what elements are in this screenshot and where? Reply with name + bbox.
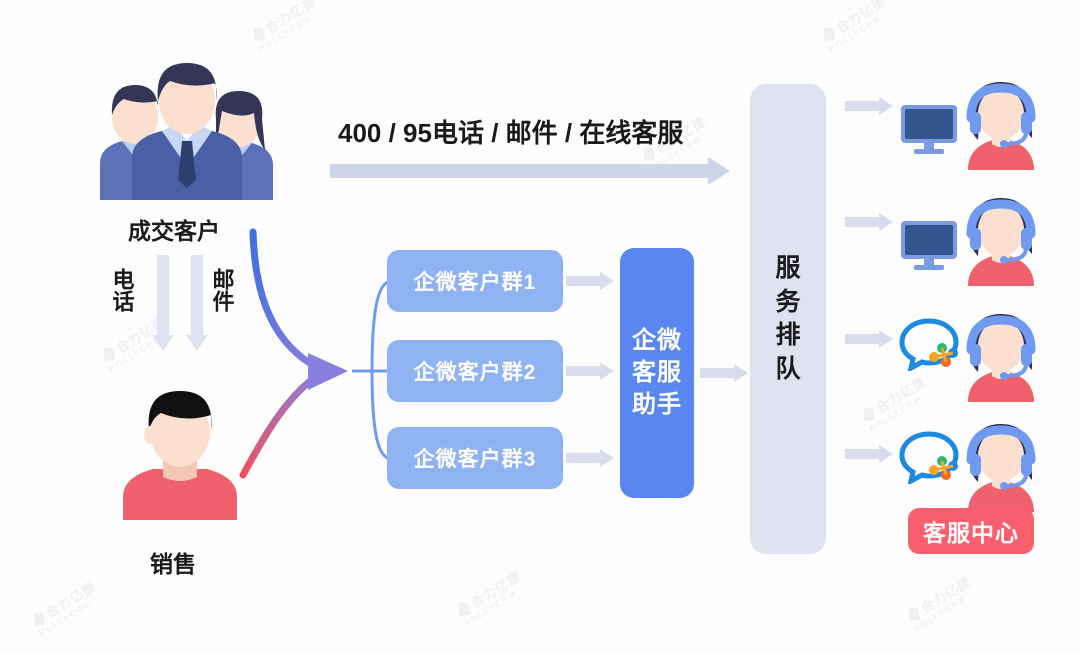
queue-to-agent-4-arrow xyxy=(845,445,893,463)
agent-avatar xyxy=(958,78,1044,170)
watermark: 合力亿捷HOLLYCRM xyxy=(453,568,529,630)
queue-to-agent-2-arrow xyxy=(845,213,893,231)
queue-line-3: 排 xyxy=(775,319,800,353)
assistant-line-1: 企微 xyxy=(632,325,682,357)
service-queue-box[interactable]: 服 务 排 队 xyxy=(750,84,826,554)
monitor-icon xyxy=(900,104,958,154)
wecom-group-2[interactable]: 企微客户群2 xyxy=(387,340,563,402)
top-channel-label: 400 / 95电话 / 邮件 / 在线客服 xyxy=(338,113,683,150)
watermark: 合力亿捷HOLLYCRM xyxy=(903,573,979,635)
service-center-badge[interactable]: 客服中心 xyxy=(908,508,1034,554)
queue-to-agent-3-arrow xyxy=(845,330,893,348)
watermark: 合力亿捷HOLLYCRM xyxy=(818,0,894,55)
monitor-icon xyxy=(900,220,958,270)
wecom-group-3[interactable]: 企微客户群3 xyxy=(387,427,563,489)
customers-illustration xyxy=(70,55,300,200)
agent-avatar xyxy=(958,194,1044,286)
watermark: 合力亿捷HOLLYCRM xyxy=(28,578,104,640)
queue-line-4: 队 xyxy=(775,353,800,387)
agent-avatar xyxy=(958,310,1044,402)
customers-label: 成交客户 xyxy=(128,212,220,246)
queue-line-2: 务 xyxy=(775,286,800,320)
assistant-to-queue-arrow xyxy=(700,364,748,382)
phone-label: 电话 xyxy=(108,268,136,312)
agent-avatar xyxy=(958,420,1044,512)
sales-illustration xyxy=(105,385,255,520)
wecom-chat-icon xyxy=(898,428,964,484)
top-channel-arrow xyxy=(330,157,730,185)
wecom-group-1[interactable]: 企微客户群1 xyxy=(387,250,563,312)
group-3-to-assistant-arrow xyxy=(566,449,614,467)
sales-label: 销售 xyxy=(150,545,196,579)
email-down-arrow xyxy=(186,255,208,351)
group-2-to-assistant-arrow xyxy=(566,362,614,380)
watermark: 合力亿捷HOLLYCRM xyxy=(858,373,934,435)
watermark: 合力亿捷HOLLYCRM xyxy=(248,0,324,55)
email-label: 邮件 xyxy=(208,268,236,312)
queue-to-agent-1-arrow xyxy=(845,97,893,115)
queue-line-1: 服 xyxy=(775,252,800,286)
assistant-line-3: 助手 xyxy=(632,389,682,421)
wecom-chat-icon xyxy=(898,315,964,371)
phone-down-arrow xyxy=(152,255,174,351)
diagram-canvas: 合力亿捷HOLLYCRM 合力亿捷HOLLYCRM 合力亿捷HOLLYCRM 合… xyxy=(0,0,1080,654)
wecom-service-assistant-box[interactable]: 企微 客服 助手 xyxy=(620,248,694,498)
group-1-to-assistant-arrow xyxy=(566,272,614,290)
assistant-line-2: 客服 xyxy=(632,357,682,389)
